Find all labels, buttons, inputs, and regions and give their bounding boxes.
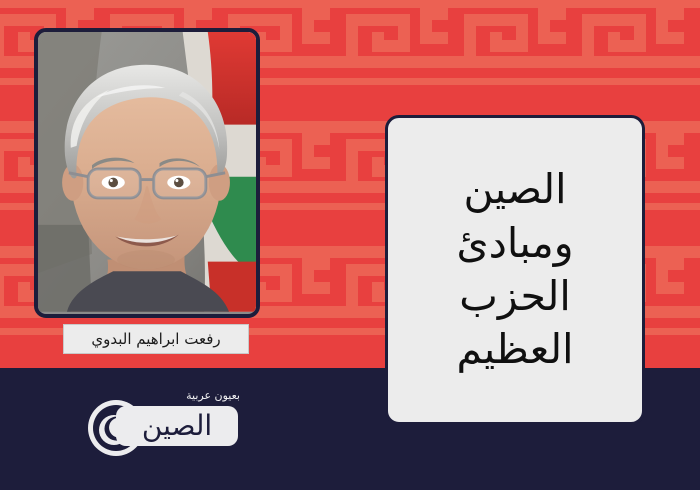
- article-cover-poster: رفعت ابراهيم البدوي الصين ومبادئ الحزب ا…: [0, 0, 700, 490]
- portrait-photo: [38, 32, 256, 312]
- logo-tagline: بعيون عربية: [186, 389, 240, 402]
- subject-name-plate: رفعت ابراهيم البدوي: [63, 324, 249, 354]
- headline-line-2: ومبادئ: [457, 217, 574, 270]
- headline-line-4: العظيم: [457, 323, 574, 376]
- logo-name-pill: الصين: [116, 406, 238, 446]
- subject-name-text: رفعت ابراهيم البدوي: [91, 330, 220, 348]
- headline-line-1: الصين: [463, 163, 566, 216]
- portrait-frame: [34, 28, 260, 318]
- headline-card: الصين ومبادئ الحزب العظيم: [385, 115, 645, 425]
- site-logo[interactable]: بعيون عربية الصين: [86, 388, 246, 458]
- headline-line-3: الحزب: [459, 270, 571, 323]
- logo-name-text: الصين: [142, 412, 212, 440]
